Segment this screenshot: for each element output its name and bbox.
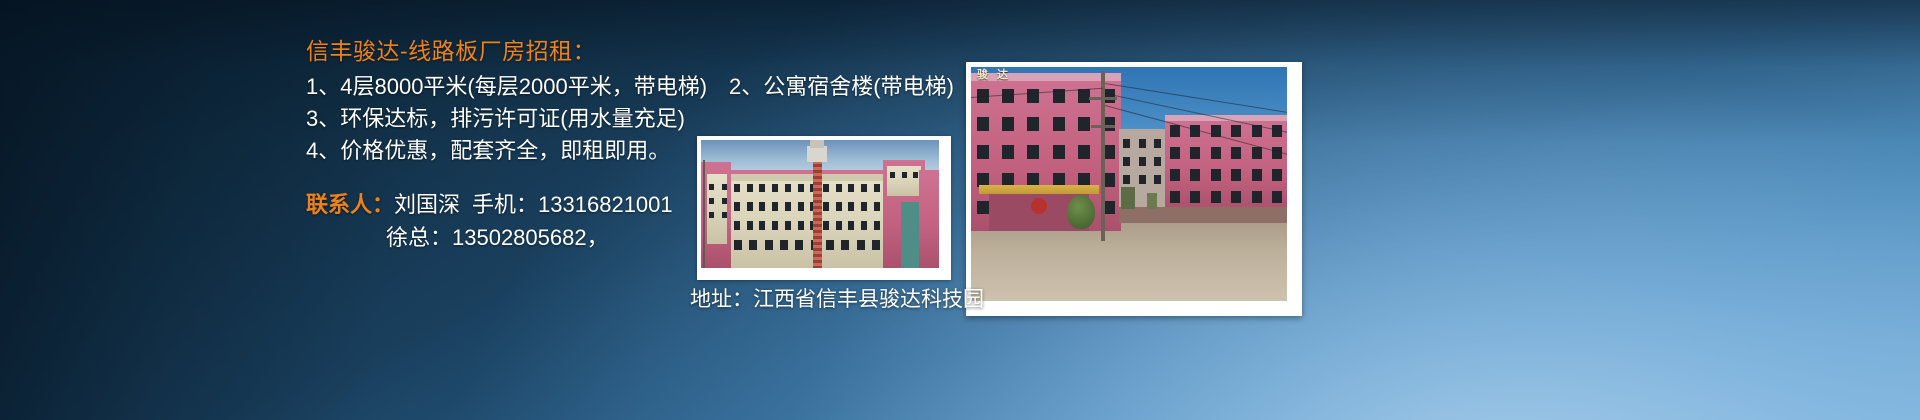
- bullet-2-text: 环保达标，排污许可证(用水量充足): [340, 106, 685, 131]
- bullet-item-2: 3、环保达标，排污许可证(用水量充足): [306, 103, 954, 135]
- bullet-2-number: 3、: [306, 106, 340, 131]
- bullet-1-text: 4层8000平米(每层2000平米，带电梯): [340, 74, 707, 99]
- promo-banner: 信丰骏达-线路板厂房招租： 1、4层8000平米(每层2000平米，带电梯)2、…: [0, 0, 1920, 420]
- photo-campus-entrance[interactable]: 骏 达: [966, 62, 1302, 316]
- bullet-3-number: 4、: [306, 138, 340, 163]
- company-sign-text: 骏 达: [977, 67, 1011, 82]
- bullet-item-1: 1、4层8000平米(每层2000平米，带电梯)2、公寓宿舍楼(带电梯): [306, 71, 954, 103]
- contact-phone-label: 手机：: [472, 192, 538, 217]
- contact-name: 刘国深: [394, 192, 460, 217]
- photo-campus-entrance-content: 骏 达: [971, 67, 1287, 301]
- photo-factory-building[interactable]: [697, 136, 951, 280]
- contact-secondary-line: 徐总：13502805682，: [306, 221, 673, 254]
- bullet-1-number: 1、: [306, 74, 340, 99]
- photo-factory-building-content: [701, 140, 939, 268]
- bullet-3-text: 价格优惠，配套齐全，即租即用。: [340, 138, 670, 163]
- contact-block: 联系人：刘国深手机：13316821001 徐总：13502805682，: [306, 188, 673, 254]
- contact-secondary-phone[interactable]: 徐总：13502805682，: [386, 225, 609, 250]
- address-caption: 地址：江西省信丰县骏达科技园: [690, 286, 984, 314]
- page-title: 信丰骏达-线路板厂房招租：: [306, 36, 954, 66]
- contact-label: 联系人：: [306, 192, 394, 217]
- contact-primary-line: 联系人：刘国深手机：13316821001: [306, 188, 673, 221]
- contact-phone-number[interactable]: 13316821001: [538, 192, 673, 217]
- bullet-1-extra: 2、公寓宿舍楼(带电梯): [729, 74, 954, 99]
